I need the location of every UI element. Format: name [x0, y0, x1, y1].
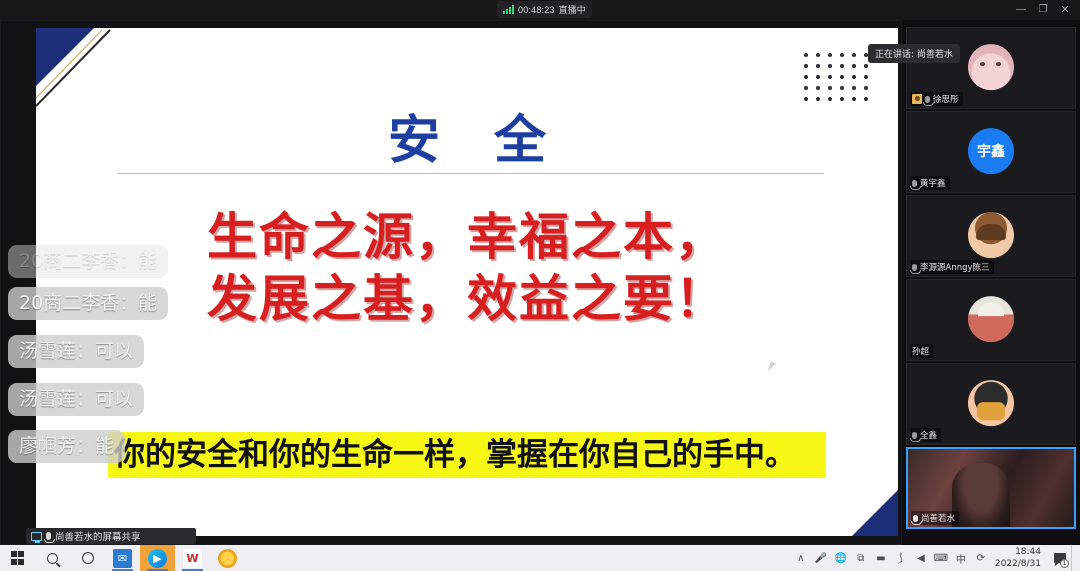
taskbar-app-wps[interactable]: W	[175, 545, 210, 571]
avatar	[968, 296, 1014, 342]
keyboard-icon[interactable]: ⌨	[931, 545, 951, 571]
live-timer: 00:48:23	[518, 5, 555, 15]
live-status-label: 直播中	[559, 3, 586, 16]
participant-name: 黄宇鑫	[920, 177, 946, 189]
presentation-slide: 安 全 生命之源，幸福之本， 发展之基，效益之要！ 你的安全和你的生命一样，掌握…	[36, 28, 898, 536]
slide-title-divider	[118, 173, 824, 174]
microphone-muted-icon	[912, 432, 917, 439]
microphone-icon	[913, 515, 918, 522]
volume-icon[interactable]: ◀	[911, 545, 931, 571]
participant-strip[interactable]: 徐思彤 宇鑫 黄宇鑫 李源源Anngy陈三 孙超	[902, 20, 1080, 545]
signal-strength-icon	[503, 5, 514, 14]
screenshot-tool-icon[interactable]: ⧉	[851, 545, 871, 571]
show-desktop-button[interactable]	[1071, 545, 1076, 571]
microphone-icon	[46, 532, 51, 540]
system-tray: ∧ 🎤 🌐 ⧉ ▬ ⟆ ◀ ⌨ 中 ⟳ 18:44 2022/8/31 1	[791, 545, 1080, 571]
taskbar-clock[interactable]: 18:44 2022/8/31	[991, 545, 1049, 571]
windows-logo-icon	[11, 551, 25, 565]
start-button[interactable]	[0, 545, 35, 571]
avatar	[968, 212, 1014, 258]
cortana-circle-icon	[82, 552, 94, 564]
participant-name-badge: 李源源Anngy陈三	[910, 260, 994, 274]
sync-refresh-icon[interactable]: ⟳	[971, 545, 991, 571]
taskbar-app-mail[interactable]: ✉	[105, 545, 140, 571]
meeting-app-window: 00:48:23 直播中 — ❐ ✕ 安 全	[0, 0, 1080, 571]
mouse-cursor	[770, 362, 777, 368]
slide-title: 安 全	[36, 98, 898, 173]
participant-name: 徐思彤	[933, 93, 959, 105]
wifi-icon[interactable]: ⟆	[891, 545, 911, 571]
chevron-up-icon[interactable]: ∧	[791, 545, 811, 571]
microphone-muted-icon	[912, 264, 917, 271]
meeting-app-icon: ▶	[148, 549, 167, 568]
weather-sun-icon	[218, 549, 237, 568]
avatar: 宇鑫	[968, 128, 1014, 174]
participant-name-badge: 黄宇鑫	[910, 176, 950, 190]
screen-share-label: 尚善若水的屏幕共享	[55, 529, 141, 543]
avatar	[968, 380, 1014, 426]
avatar-initials: 宇鑫	[977, 141, 1005, 161]
participant-name-badge: 全鑫	[910, 428, 941, 442]
speaking-tooltip: 正在讲话: 尚善若水	[868, 44, 960, 63]
windows-taskbar[interactable]: ✉ ▶ W ∧ 🎤 🌐 ⧉ ▬ ⟆ ◀ ⌨ 中 ⟳	[0, 545, 1080, 571]
taskbar-app-weather[interactable]	[210, 545, 245, 571]
participant-name-badge: 孙超	[910, 344, 933, 358]
ime-language-icon[interactable]: 中	[951, 545, 971, 571]
video-feed	[952, 463, 1010, 529]
participant-name: 李源源Anngy陈三	[920, 261, 990, 273]
close-icon[interactable]: ✕	[1054, 0, 1076, 20]
live-status-pill: 00:48:23 直播中	[497, 1, 592, 18]
participant-name-badge: 徐思彤	[910, 92, 963, 106]
slide-red-line-1: 生命之源，幸福之本，	[36, 206, 898, 268]
microphone-muted-icon	[925, 96, 930, 103]
participant-name: 尚善若水	[921, 512, 955, 524]
microphone-muted-icon	[912, 180, 917, 187]
participant-tile[interactable]: 宇鑫 黄宇鑫	[906, 111, 1076, 193]
window-title-bar: 00:48:23 直播中 — ❐ ✕	[0, 0, 1080, 20]
microphone-tray-icon[interactable]: 🎤	[811, 545, 831, 571]
notification-count: 1	[1060, 559, 1069, 568]
clock-date: 2022/8/31	[995, 558, 1041, 570]
wps-office-icon: W	[183, 549, 202, 568]
monitor-icon	[31, 532, 42, 541]
participant-name: 孙超	[912, 345, 929, 357]
participant-tile[interactable]: 李源源Anngy陈三	[906, 195, 1076, 277]
screen-share-status-bar[interactable]: 尚善若水的屏幕共享	[26, 528, 196, 544]
participant-tile[interactable]: 尚善若水	[906, 447, 1076, 529]
maximize-button[interactable]: ❐	[1032, 0, 1054, 20]
taskbar-left-group: ✉ ▶ W	[0, 545, 245, 571]
shared-screen-stage[interactable]: 安 全 生命之源，幸福之本， 发展之基，效益之要！ 你的安全和你的生命一样，掌握…	[0, 20, 902, 545]
taskbar-search-button[interactable]	[35, 545, 70, 571]
slide-red-slogan: 生命之源，幸福之本， 发展之基，效益之要！	[36, 206, 898, 330]
notification-center-button[interactable]: 1	[1049, 545, 1071, 571]
participant-name-badge: 尚善若水	[911, 511, 959, 525]
host-badge-icon	[912, 94, 922, 104]
taskbar-app-meeting[interactable]: ▶	[140, 545, 175, 571]
slide-corner-decoration-bottom-right	[852, 490, 898, 536]
participant-tile[interactable]: 全鑫	[906, 363, 1076, 445]
network-globe-icon[interactable]: 🌐	[831, 545, 851, 571]
participant-name: 全鑫	[920, 429, 937, 441]
mail-icon: ✉	[113, 549, 132, 568]
battery-icon[interactable]: ▬	[871, 545, 891, 571]
minimize-button[interactable]: —	[1010, 0, 1032, 20]
participant-tile[interactable]: 徐思彤	[906, 27, 1076, 109]
participant-tile[interactable]: 孙超	[906, 279, 1076, 361]
search-icon	[47, 553, 58, 564]
cortana-button[interactable]	[70, 545, 105, 571]
slide-red-line-2: 发展之基，效益之要！	[36, 268, 898, 330]
clock-time: 18:44	[1015, 546, 1041, 558]
slide-highlighted-sentence: 你的安全和你的生命一样，掌握在你自己的手中。	[108, 432, 826, 478]
avatar	[968, 44, 1014, 90]
window-controls: — ❐ ✕	[1010, 0, 1076, 20]
